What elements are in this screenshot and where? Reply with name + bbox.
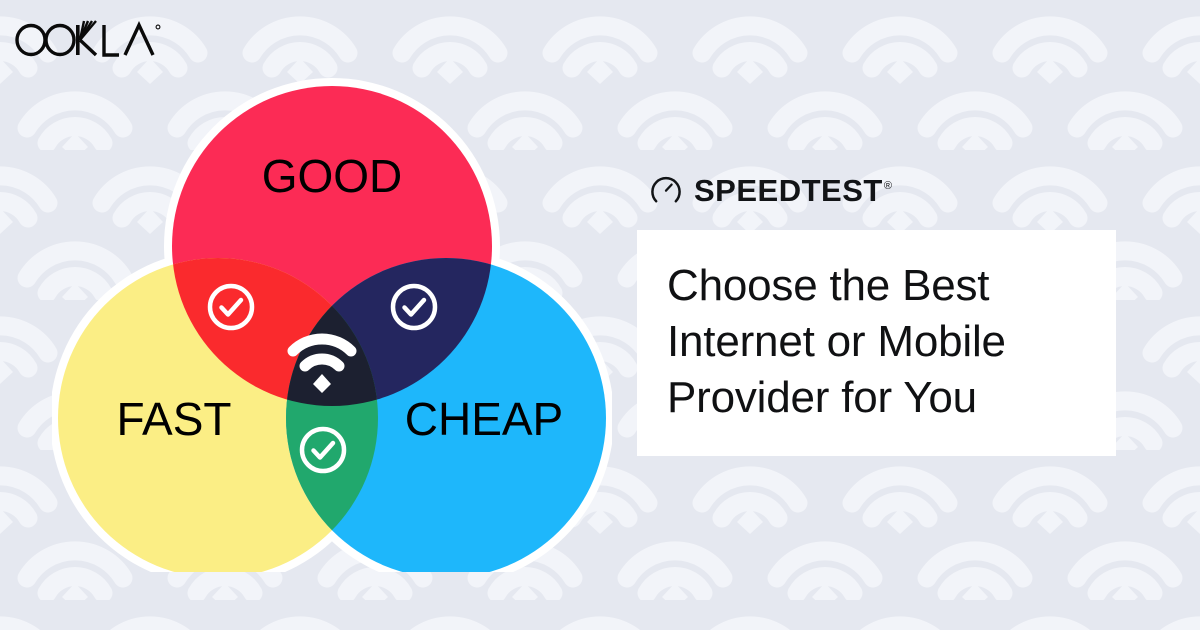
headline-line-3: Provider for You	[667, 373, 977, 422]
headline-card: Choose the Best Internet or Mobile Provi…	[637, 230, 1116, 456]
venn-label-cheap: CHEAP	[405, 393, 563, 445]
speedtest-wordmark: SPEEDTEST®	[694, 175, 892, 206]
headline-line-2: Internet or Mobile	[667, 317, 1006, 366]
venn-label-good: GOOD	[262, 150, 403, 202]
venn-diagram: GOOD FAST CHEAP	[52, 62, 612, 572]
page-title: Choose the Best Internet or Mobile Provi…	[667, 258, 1086, 426]
registered-mark: ®	[884, 180, 892, 192]
venn-label-fast: FAST	[116, 393, 231, 445]
promo-graphic: GOOD FAST CHEAP SPEEDTEST® Choose the Be…	[0, 0, 1200, 630]
speedtest-logo-lockup: SPEEDTEST®	[649, 170, 1117, 210]
headline-line-1: Choose the Best	[667, 261, 989, 310]
right-content-panel: SPEEDTEST® Choose the Best Internet or M…	[637, 170, 1117, 456]
ookla-logo	[14, 16, 162, 60]
speedtest-name: SPEEDTEST	[694, 173, 883, 208]
speedometer-gauge-icon	[649, 173, 683, 207]
